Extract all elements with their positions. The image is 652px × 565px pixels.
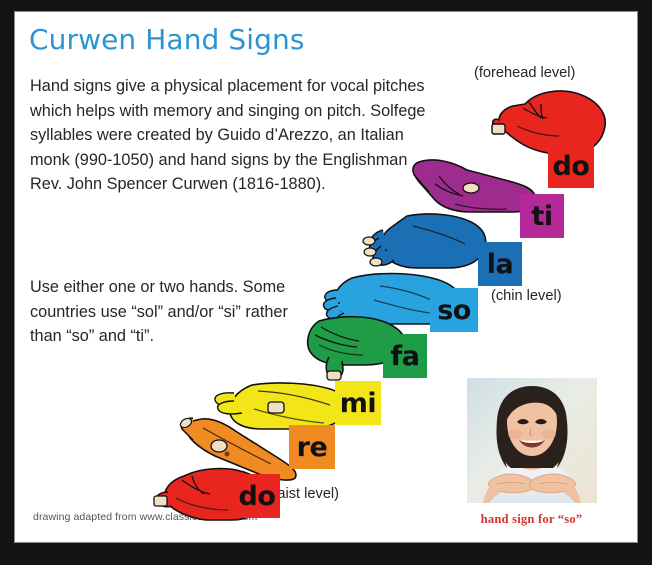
solfege-chip-ti: ti xyxy=(520,194,564,238)
solfege-chip-fa: fa xyxy=(383,334,427,378)
chin-level-note: (chin level) xyxy=(491,288,562,304)
photo-girl-so-sign xyxy=(467,378,597,503)
photo-caption: hand sign for “so” xyxy=(449,512,614,527)
solfege-chip-mi: mi xyxy=(335,381,381,425)
solfege-chip-so: so xyxy=(430,288,478,332)
poster-page: Curwen Hand Signs Hand signs give a phys… xyxy=(19,16,633,531)
solfege-chip-re: re xyxy=(289,425,335,469)
photo-block: hand sign for “so” xyxy=(449,376,614,531)
hand-sign-la xyxy=(359,212,489,274)
solfege-chip-la: la xyxy=(478,242,522,286)
solfege-chip-do-low: do xyxy=(234,474,280,518)
page-title: Curwen Hand Signs xyxy=(29,24,305,56)
solfege-chip-do-high: do xyxy=(548,144,594,188)
forehead-level-note: (forehead level) xyxy=(474,65,575,81)
poster: Curwen Hand Signs Hand signs give a phys… xyxy=(0,0,652,565)
intro-paragraph: Hand signs give a physical placement for… xyxy=(30,74,430,197)
usage-paragraph: Use either one or two hands. Some countr… xyxy=(30,275,300,349)
